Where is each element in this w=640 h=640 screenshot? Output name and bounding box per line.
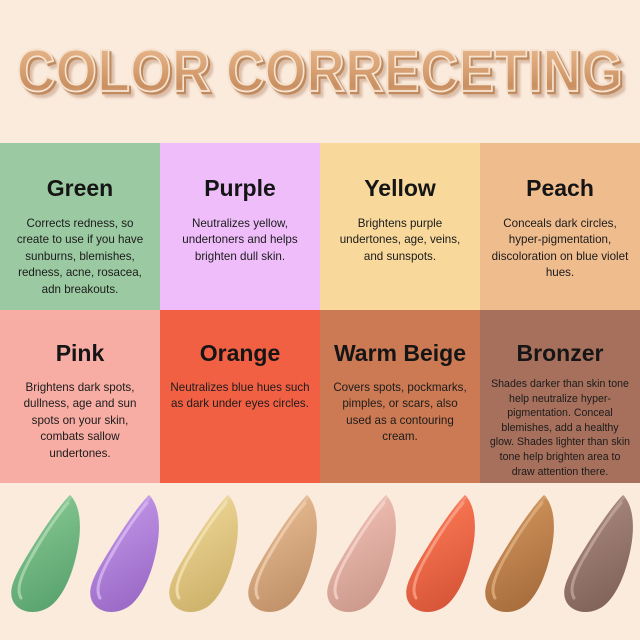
cell-description-orange: Neutralizes blue hues such as dark under… <box>166 380 314 413</box>
coral-swatch <box>406 495 475 612</box>
cell-description-green: Corrects redness, so create to use if yo… <box>6 216 154 298</box>
purple-swatch <box>90 495 159 612</box>
cell-description-bronzer: Shades darker than skin tone help neutra… <box>486 377 634 479</box>
cell-description-purple: Neutralizes yellow, undertoners and help… <box>166 216 314 265</box>
color-grid: Green Corrects redness, so create to use… <box>0 143 640 483</box>
cell-description-peach: Conceals dark circles, hyper-pigmentatio… <box>486 216 634 282</box>
bronze-swatch <box>485 495 554 612</box>
mauve-brown-swatch <box>564 495 633 612</box>
grid-cell-pink: Pink Brightens dark spots, dullness, age… <box>0 310 160 483</box>
page-title: COLOR CORRECETING <box>17 42 623 101</box>
grid-cell-warm-beige: Warm Beige Covers spots, pockmarks, pimp… <box>320 310 480 483</box>
cell-title-orange: Orange <box>200 342 281 365</box>
cell-title-warm-beige: Warm Beige <box>334 342 466 365</box>
cell-description-warm-beige: Covers spots, pockmarks, pimples, or sca… <box>326 380 474 446</box>
grid-cell-orange: Orange Neutralizes blue hues such as dar… <box>160 310 320 483</box>
grid-cell-purple: Purple Neutralizes yellow, undertoners a… <box>160 143 320 310</box>
swatch-strip <box>0 483 640 640</box>
swatch-strip-graphic <box>0 483 640 640</box>
cell-title-green: Green <box>47 177 113 200</box>
pink-swatch <box>327 495 396 612</box>
cell-title-peach: Peach <box>526 177 594 200</box>
yellow-swatch <box>169 495 238 612</box>
cell-title-bronzer: Bronzer <box>517 342 604 365</box>
grid-cell-bronzer: Bronzer Shades darker than skin tone hel… <box>480 310 640 483</box>
cell-title-pink: Pink <box>56 342 105 365</box>
cell-title-purple: Purple <box>204 177 276 200</box>
title-band: COLOR CORRECETING <box>0 0 640 143</box>
grid-cell-peach: Peach Conceals dark circles, hyper-pigme… <box>480 143 640 310</box>
cell-description-pink: Brightens dark spots, dullness, age and … <box>6 380 154 462</box>
color-correcting-poster: COLOR CORRECETING Green Corrects redness… <box>0 0 640 640</box>
cell-description-yellow: Brightens purple undertones, age, veins,… <box>326 216 474 265</box>
cell-title-yellow: Yellow <box>364 177 436 200</box>
grid-cell-yellow: Yellow Brightens purple undertones, age,… <box>320 143 480 310</box>
grid-cell-green: Green Corrects redness, so create to use… <box>0 143 160 310</box>
green-swatch <box>11 495 80 612</box>
beige-swatch <box>248 495 317 612</box>
